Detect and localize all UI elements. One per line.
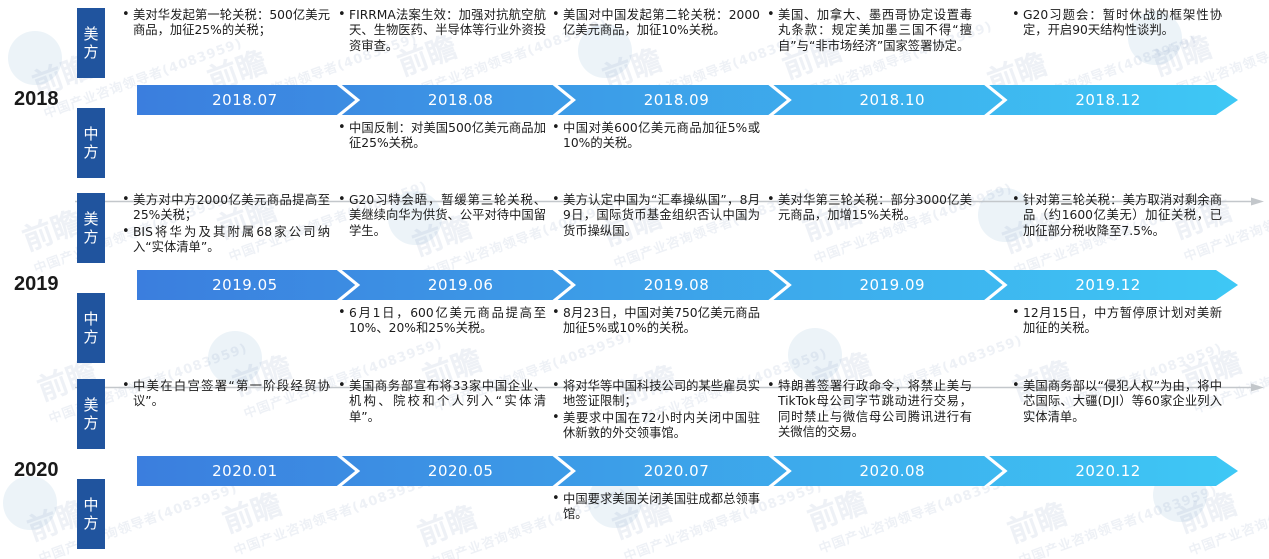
- cn-note-cell: 中国对美600亿美元商品加征5%或10%的关税。: [552, 121, 760, 153]
- us-note-item: FIRRMA法案生效：加强对抗航空航天、生物医药、半导体等行业外资投资审查。: [338, 8, 546, 54]
- side-tag-cn: 中方: [77, 479, 105, 549]
- year-block-2018: 2018美方中方2018.072018.082018.092018.102018…: [0, 0, 1269, 185]
- year-label: 2018: [14, 88, 59, 111]
- milestone-label[interactable]: 2020.01: [137, 456, 353, 486]
- us-note-item: 针对第三轮关税：美方取消对剩余商品（约1600亿美无）加征关税，已加征部分税收降…: [1012, 193, 1222, 239]
- cn-note-item: 8月23日，中国对美750亿美元商品加征5%或10%的关税。: [552, 306, 760, 337]
- milestone-label[interactable]: 2018.07: [137, 85, 353, 115]
- side-tag-cn-char2: 方: [83, 328, 98, 346]
- us-note-item: 中美在白宫签署“第一阶段经贸协议”。: [122, 379, 330, 410]
- us-note-item: 美对华第三轮关税：部分3000亿美元商品，加增15%关税。: [767, 193, 972, 224]
- side-tag-cn-char2: 方: [83, 143, 98, 161]
- cn-note-cell: 8月23日，中国对美750亿美元商品加征5%或10%的关税。: [552, 306, 760, 338]
- us-note-cell: 美国对中国发起第二轮关税：2000亿美元商品，加征10%关税。: [552, 8, 760, 40]
- us-note-cell: 美国、加拿大、墨西哥协定设置毒丸条款：规定美加墨三国不得“擅自”与“非市场经济”…: [767, 8, 972, 55]
- us-note-item: 美国对中国发起第二轮关税：2000亿美元商品，加征10%关税。: [552, 8, 760, 39]
- us-note-item: 美方认定中国为“汇奉操纵国”，8月9日，国际货币基金组织否认中国为货币操纵国。: [552, 193, 760, 239]
- us-note-cell: 中美在白宫签署“第一阶段经贸协议”。: [122, 379, 330, 411]
- year-block-2020: 2020美方中方2020.012020.052020.072020.082020…: [0, 371, 1269, 559]
- milestone-label[interactable]: 2020.08: [784, 456, 1000, 486]
- us-note-item: 特朗善签署行政命令，将禁止美与TikTok母公司字节跳动进行交易，同时禁止与微信…: [767, 379, 972, 440]
- side-tag-cn: 中方: [77, 293, 105, 363]
- milestone-label[interactable]: 2019.08: [569, 270, 785, 300]
- us-note-item: 将对华等中国科技公司的某些雇员实地签证限制；: [552, 379, 760, 410]
- us-note-item: 美方对中方2000亿美元商品提高至25%关税；: [122, 193, 330, 224]
- us-note-item: 美国、加拿大、墨西哥协定设置毒丸条款：规定美加墨三国不得“擅自”与“非市场经济”…: [767, 8, 972, 54]
- cn-note-item: 中国反制：对美国500亿美元商品加征25%关税。: [338, 121, 546, 152]
- us-note-cell: 美方认定中国为“汇奉操纵国”，8月9日，国际货币基金组织否认中国为货币操纵国。: [552, 193, 760, 240]
- us-note-item: G20习题会：暂时休战的框架性协定，开启90天结构性谈判。: [1012, 8, 1222, 39]
- side-tag-cn-char2: 方: [83, 514, 98, 532]
- us-note-cell: 美对华发起第一轮关税：500亿美元商品，加征25%的关税；: [122, 8, 330, 40]
- us-note-item: G20习特会晤，暂缓第三轮关税、美继续向华为供货、公平对待中国留学生。: [338, 193, 546, 239]
- us-note-cell: FIRRMA法案生效：加强对抗航空航天、生物医药、半导体等行业外资投资审查。: [338, 8, 546, 55]
- milestone-label[interactable]: 2018.08: [353, 85, 569, 115]
- cn-note-cell: 12月15日，中方暂停原计划对美新加征的关税。: [1012, 306, 1222, 338]
- side-tag-us-char2: 方: [83, 228, 98, 246]
- cn-note-cell: 中国反制：对美国500亿美元商品加征25%关税。: [338, 121, 546, 153]
- us-note-cell: G20习特会晤，暂缓第三轮关税、美继续向华为供货、公平对待中国留学生。: [338, 193, 546, 240]
- us-note-item: BIS将华为及其附属68家公司纳入“实体清单”。: [122, 225, 330, 256]
- side-tag-cn-char1: 中: [83, 496, 98, 514]
- milestone-label[interactable]: 2019.09: [784, 270, 1000, 300]
- us-note-cell: 美方对中方2000亿美元商品提高至25%关税；BIS将华为及其附属68家公司纳入…: [122, 193, 330, 256]
- us-note-cell: 特朗善签署行政命令，将禁止美与TikTok母公司字节跳动进行交易，同时禁止与微信…: [767, 379, 972, 441]
- cn-note-cell: 6月1日，600亿美元商品提高至10%、20%和25%关税。: [338, 306, 546, 338]
- timeline-infographic: 2018美方中方2018.072018.082018.092018.102018…: [0, 0, 1269, 559]
- milestone-label[interactable]: 2018.10: [784, 85, 1000, 115]
- us-note-item: 美要求中国在72小时内关闭中国驻休新敦的外交领事馆。: [552, 411, 760, 442]
- side-tag-us: 美方: [77, 193, 105, 263]
- milestone-label[interactable]: 2018.12: [1000, 85, 1216, 115]
- us-note-item: 美国商务部宣布将33家中国企业、机构、院校和个人列入“实体清单”。: [338, 379, 546, 425]
- year-label: 2019: [14, 273, 59, 296]
- milestone-label[interactable]: 2020.12: [1000, 456, 1216, 486]
- timeline-arrow-bar: 2020.012020.052020.072020.082020.12: [137, 456, 1238, 486]
- cn-note-item: 中国对美600亿美元商品加征5%或10%的关税。: [552, 121, 760, 152]
- side-tag-cn-char1: 中: [83, 310, 98, 328]
- side-tag-cn: 中方: [77, 108, 105, 178]
- cn-note-item: 中国要求美国关闭美国驻成都总领事馆。: [552, 492, 760, 523]
- side-tag-us-char1: 美: [83, 396, 98, 414]
- us-note-cell: 针对第三轮关税：美方取消对剩余商品（约1600亿美无）加征关税，已加征部分税收降…: [1012, 193, 1222, 240]
- side-tag-us-char2: 方: [83, 414, 98, 432]
- side-tag-us: 美方: [77, 379, 105, 449]
- us-note-item: 美对华发起第一轮关税：500亿美元商品，加征25%的关税；: [122, 8, 330, 39]
- milestone-label[interactable]: 2019.06: [353, 270, 569, 300]
- timeline-arrow-bar: 2018.072018.082018.092018.102018.12: [137, 85, 1238, 115]
- milestone-label[interactable]: 2019.05: [137, 270, 353, 300]
- side-tag-us-char2: 方: [83, 43, 98, 61]
- us-note-cell: 美国商务部以“侵犯人权”为由，将中芯国际、大疆(DJI）等60家企业列入实体清单…: [1012, 379, 1222, 426]
- us-note-cell: 美国商务部宣布将33家中国企业、机构、院校和个人列入“实体清单”。: [338, 379, 546, 426]
- milestone-label[interactable]: 2020.05: [353, 456, 569, 486]
- side-tag-us-char1: 美: [83, 25, 98, 43]
- us-note-cell: 将对华等中国科技公司的某些雇员实地签证限制；美要求中国在72小时内关闭中国驻休新…: [552, 379, 760, 442]
- cn-note-item: 6月1日，600亿美元商品提高至10%、20%和25%关税。: [338, 306, 546, 337]
- us-note-cell: 美对华第三轮关税：部分3000亿美元商品，加增15%关税。: [767, 193, 972, 225]
- cn-note-cell: 中国要求美国关闭美国驻成都总领事馆。: [552, 492, 760, 524]
- year-block-2019: 2019美方中方2019.052019.062019.082019.092019…: [0, 185, 1269, 370]
- us-note-item: 美国商务部以“侵犯人权”为由，将中芯国际、大疆(DJI）等60家企业列入实体清单…: [1012, 379, 1222, 425]
- timeline-arrow-bar: 2019.052019.062019.082019.092019.12: [137, 270, 1238, 300]
- cn-note-item: 12月15日，中方暂停原计划对美新加征的关税。: [1012, 306, 1222, 337]
- us-note-cell: G20习题会：暂时休战的框架性协定，开启90天结构性谈判。: [1012, 8, 1222, 40]
- year-label: 2020: [14, 459, 59, 482]
- side-tag-cn-char1: 中: [83, 125, 98, 143]
- milestone-label[interactable]: 2020.07: [569, 456, 785, 486]
- milestone-label[interactable]: 2018.09: [569, 85, 785, 115]
- side-tag-us: 美方: [77, 8, 105, 78]
- milestone-label[interactable]: 2019.12: [1000, 270, 1216, 300]
- side-tag-us-char1: 美: [83, 210, 98, 228]
